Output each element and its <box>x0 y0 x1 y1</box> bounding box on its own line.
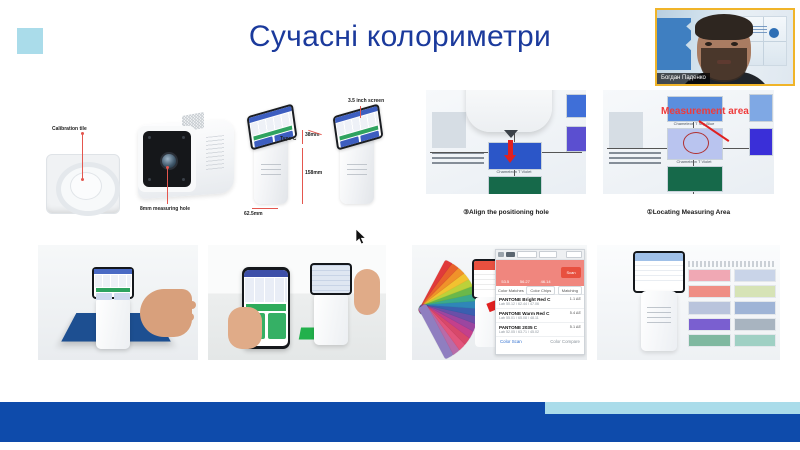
hand-holding-phone <box>228 307 262 349</box>
colorimeter-device-paired <box>310 263 352 343</box>
locate-plate-label <box>609 152 661 164</box>
color-chart-swatch-grid <box>688 269 776 347</box>
dim-width-line <box>252 208 278 209</box>
color-scan-link[interactable]: Color Scan <box>500 339 522 344</box>
measurement-area-label: Measurement area <box>661 106 749 117</box>
match-row[interactable]: 5.4 ΔE PANTONE Warm Red C Lab 55.01 / 65… <box>496 309 584 323</box>
calibration-tile-disc <box>70 172 102 200</box>
screen-size-label: 3.5 inch screen <box>348 98 384 104</box>
match-delta-e: 5.1 ΔE <box>570 325 581 329</box>
measuring-hole <box>160 152 178 170</box>
dim-width-label: 62.5mm <box>244 211 263 217</box>
lab-a-value: 56.27 <box>520 279 530 284</box>
mouse-cursor <box>356 229 367 245</box>
measuring-hole-leader-dot <box>166 166 169 169</box>
locate-swatch-side-1 <box>749 94 773 122</box>
locate-photo-frame: Chameleon T Sky Blue Chameleon T Violet … <box>603 90 774 194</box>
calibration-tile-leader-dot <box>81 132 84 135</box>
unit-brand-text <box>261 164 281 178</box>
menu-icon[interactable] <box>498 252 504 257</box>
participant-hair <box>695 14 753 40</box>
in-hand-ui-bar <box>96 288 130 292</box>
chart-swatch <box>688 301 731 314</box>
in-hand-device-body <box>96 297 130 349</box>
chart-swatch <box>734 301 777 314</box>
unit2-brand-text <box>347 164 367 178</box>
app-screen-callout[interactable]: 53.5 56.27 46.14 Scan Color Matches Colo… <box>495 249 585 355</box>
screen-label-leader <box>360 106 361 118</box>
participant-eye-right <box>731 42 738 46</box>
chart-swatch <box>734 334 777 347</box>
plate-swatch-violet-side <box>566 126 586 152</box>
match-row[interactable]: 1.1 ΔE PANTONE Bright Red C Lab 50.12 / … <box>496 295 584 309</box>
measuring-hole-leader-line <box>167 168 168 204</box>
chart-device-ui-rows <box>635 261 683 285</box>
chart-device-screen <box>633 251 685 293</box>
finger-1 <box>170 301 196 309</box>
webcam-overlay[interactable]: Богдан Паденко <box>655 8 795 86</box>
locate-swatch-blue-caption: Chameleon T Sky Blue <box>667 121 721 126</box>
match-code: Lab 52.05 / 63.71 / 45.02 <box>499 330 581 334</box>
plate-label-text <box>432 152 484 164</box>
hand-holding-colorimeter <box>354 269 380 315</box>
dim-height-label: 158mm <box>305 170 322 176</box>
handheld-device-in-hand <box>92 267 134 347</box>
locate-swatch-caption: Chameleon T Violet <box>667 159 721 164</box>
locate-caption: ①Locating Measuring Area <box>597 208 780 216</box>
chart-device-brand <box>647 307 671 323</box>
footer-bar-light <box>545 402 800 414</box>
scan-button[interactable]: Scan <box>561 267 581 278</box>
instruction-photo-locate: Chameleon T Sky Blue Chameleon T Violet … <box>597 88 780 218</box>
color-chips-button[interactable]: Color Chips <box>526 286 555 295</box>
instruction-photo-align: Chameleon T Violet ③Align the positionin… <box>420 88 592 218</box>
matches-subheader: Color Matches Color Chips Matching <box>496 286 584 295</box>
usage-photo-phone-pairing <box>208 245 386 360</box>
unit2-screen <box>333 103 384 150</box>
locate-swatch-side-2 <box>749 128 773 156</box>
in-hand-screen-ui <box>94 269 132 297</box>
app-data-table <box>245 278 287 302</box>
locate-grey-window <box>609 112 643 148</box>
webcam-wall-logo <box>769 28 779 38</box>
chart-swatch <box>734 285 777 298</box>
match-delta-e: 1.1 ΔE <box>570 297 581 301</box>
usage-photo-fan-deck: 53.5 56.27 46.14 Scan Color Matches Colo… <box>412 245 587 360</box>
align-photo-frame: Chameleon T Violet <box>426 90 586 194</box>
lab-b-value: 46.14 <box>541 279 551 284</box>
align-caption: ③Align the positioning hole <box>420 208 592 216</box>
measured-colour-swatch: 53.5 56.27 46.14 Scan <box>496 260 584 286</box>
usage-photo-hand-device <box>38 245 198 360</box>
chart-swatch <box>688 318 731 331</box>
camera-icon[interactable] <box>506 252 515 257</box>
plate-swatch-blue-top <box>566 94 586 118</box>
locate-swatch-green <box>667 166 723 192</box>
device-side-text <box>206 135 224 171</box>
calibration-tile-target-dot <box>81 178 84 181</box>
chart-swatch <box>688 285 731 298</box>
handheld-unit-front <box>244 102 302 206</box>
match-row[interactable]: 5.1 ΔE PANTONE 2035 C Lab 52.05 / 63.71 … <box>496 323 584 337</box>
in-hand-ui-buttons <box>96 293 130 300</box>
chart-swatch <box>734 318 777 331</box>
paired-device-body <box>314 293 348 345</box>
slide-canvas: Сучасні колориметри Богдан Паденко Calib… <box>0 0 800 450</box>
lens-screw-br <box>182 178 185 181</box>
usage-photo-color-chart <box>597 245 780 360</box>
calibration-tile-leader-line <box>82 134 83 180</box>
match-code: Lab 50.12 / 62.44 / 47.06 <box>499 302 581 306</box>
chart-swatch <box>734 269 777 282</box>
measured-lab-values: 53.5 56.27 46.14 <box>496 279 556 284</box>
in-hand-device-screen <box>92 267 134 299</box>
color-compare-link[interactable]: Color Compare <box>550 339 580 344</box>
color-chart-header <box>688 261 776 267</box>
chart-device-ui <box>635 253 683 291</box>
participant-eye-left <box>705 42 712 46</box>
history-button[interactable] <box>517 251 537 258</box>
unit2-screen-ui <box>335 106 382 148</box>
colorimeter-probe <box>466 90 552 132</box>
in-hand-ui-header <box>94 269 132 274</box>
callout-footer[interactable]: Color Scan Color Compare <box>496 337 584 346</box>
handheld-unit-rear <box>330 102 385 206</box>
finger-2 <box>172 313 194 321</box>
chart-swatch <box>688 334 731 347</box>
lens-screw-bl <box>148 178 151 181</box>
chart-device-ui-header <box>635 253 683 261</box>
participant-mouth <box>717 60 731 64</box>
type-c-label: Type C <box>280 136 296 142</box>
measuring-hole-label: 8mm measuring hole <box>140 206 190 212</box>
plate-swatch-green <box>488 176 542 194</box>
save-button[interactable] <box>566 251 582 258</box>
lab-l-value: 53.5 <box>501 279 509 284</box>
lens-screw-tr <box>182 136 185 139</box>
unit-screen <box>247 103 298 150</box>
colorimeter-on-chart <box>633 251 685 351</box>
in-hand-ui-table <box>95 275 131 287</box>
colour-button[interactable] <box>539 251 557 258</box>
device-diagram-image: Calibration tile 8mm measuring hole <box>30 92 385 232</box>
match-code: Lab 55.01 / 65.08 / 48.11 <box>499 316 581 320</box>
callout-toolbar[interactable] <box>496 250 584 260</box>
alignment-arrow-icon <box>508 140 513 156</box>
plate-grey-window <box>432 112 466 148</box>
dim-depth-line <box>302 130 303 144</box>
plate-swatch-caption: Chameleon T Violet <box>488 169 540 174</box>
alignment-triangle-icon <box>504 130 518 138</box>
matches-title: Color Matches <box>498 288 524 293</box>
lens-screw-tl <box>148 136 151 139</box>
chart-swatch <box>688 269 731 282</box>
dim-height-line <box>302 148 303 204</box>
app-header-bar <box>244 270 288 277</box>
matching-button[interactable]: Matching <box>558 286 582 295</box>
match-delta-e: 5.4 ΔE <box>570 311 581 315</box>
measurement-area-circle <box>683 132 709 154</box>
participant-name-label: Богдан Паденко <box>657 73 710 84</box>
paired-device-screen-ui <box>312 265 350 293</box>
paired-device-screen <box>310 263 352 295</box>
